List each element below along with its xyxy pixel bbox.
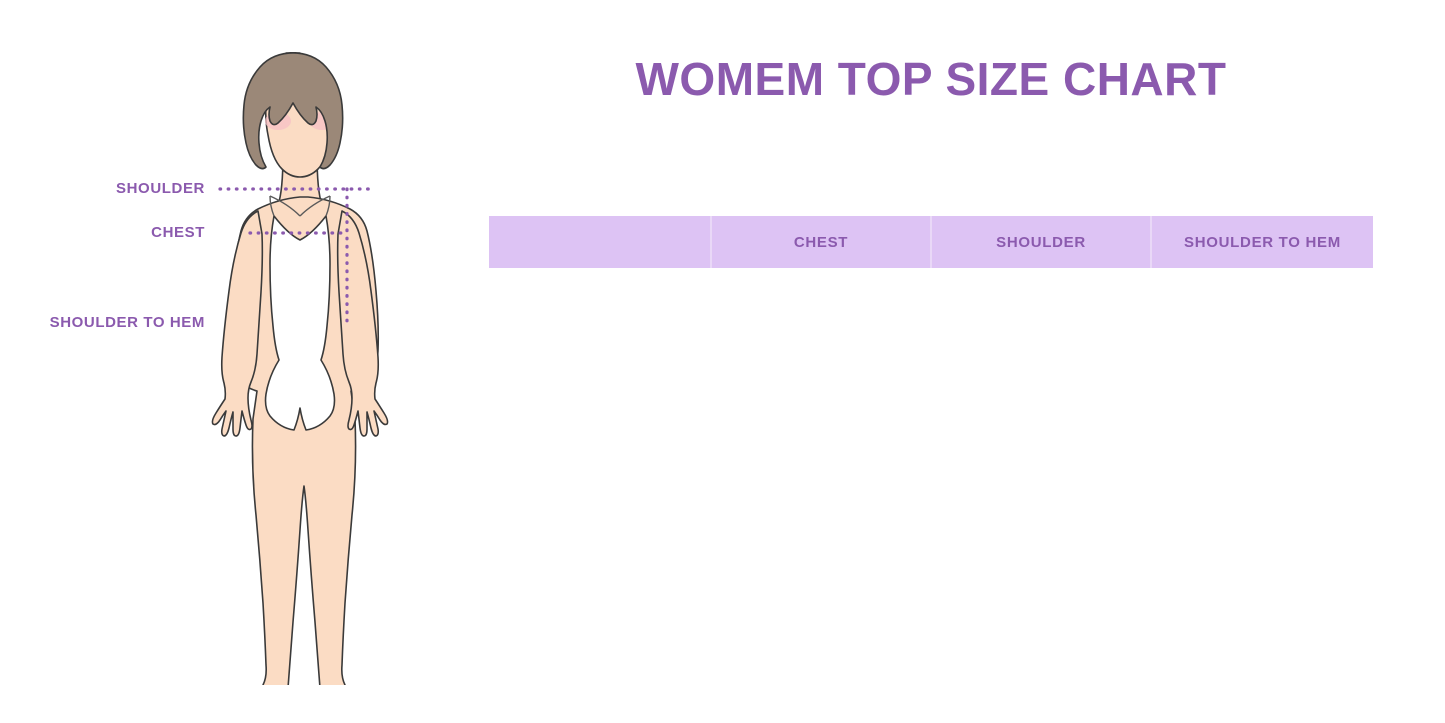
table-header-row: CHEST SHOULDER SHOULDER TO HEM bbox=[489, 216, 1373, 268]
page-title: WOMEM TOP SIZE CHART bbox=[489, 52, 1373, 106]
measurement-label-shoulder: SHOULDER bbox=[116, 180, 205, 197]
measurement-label-shoulder-to-hem: SHOULDER TO HEM bbox=[50, 314, 205, 331]
column-header-shoulder: SHOULDER bbox=[931, 216, 1151, 268]
size-chart-table: CHEST SHOULDER SHOULDER TO HEM bbox=[489, 216, 1373, 268]
column-header-shoulder-to-hem: SHOULDER TO HEM bbox=[1151, 216, 1373, 268]
measurement-label-chest: CHEST bbox=[151, 224, 205, 241]
body-figure-illustration: .skin { fill:#fbdcc4; stroke:#3a3a3a; st… bbox=[150, 45, 450, 685]
column-header-chest: CHEST bbox=[711, 216, 931, 268]
column-header-size bbox=[489, 216, 711, 268]
